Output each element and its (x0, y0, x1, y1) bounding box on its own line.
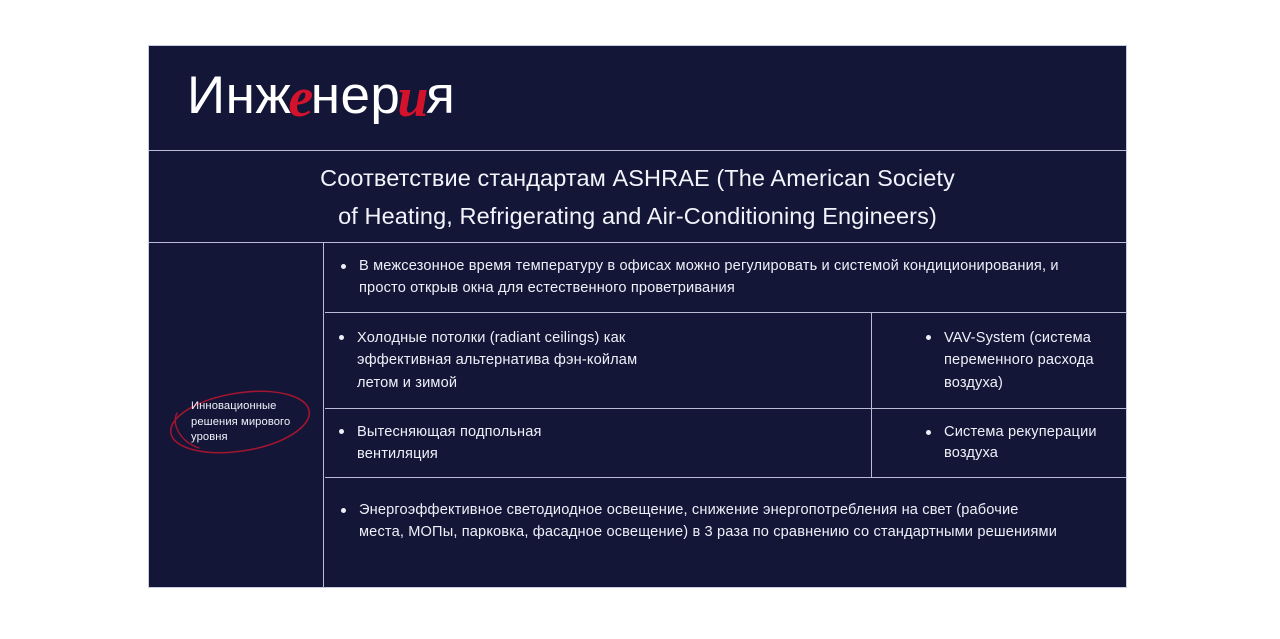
logo-band: Инженерия (149, 46, 1126, 151)
bullet-item: Система рекуперации воздуха (924, 422, 1126, 465)
content-table: Инновационные решения мирового уровня В … (149, 243, 1126, 588)
bullet-item: В межсезонное время температуру в офисах… (339, 256, 1059, 299)
bullet-item: Холодные потолки (radiant ceilings) как … (337, 327, 667, 395)
logo-part-4-script-i: и (397, 67, 429, 129)
slide-canvas: Инженерия Соответствие стандартам ASHRAE… (0, 0, 1280, 639)
logo-part-3: нер (311, 66, 401, 125)
table-cell: Энергоэффективное светодиодное освещение… (325, 478, 1126, 610)
split-row: Холодные потолки (radiant ceilings) как … (325, 313, 1126, 408)
bullet-item: VAV-System (система переменного расхода … (924, 327, 1126, 395)
table-row: Вытесняющая подпольная вентиляция Систем… (325, 409, 1126, 478)
table-cell: Система рекуперации воздуха (872, 409, 1126, 477)
table-row: Энергоэффективное светодиодное освещение… (325, 478, 1126, 588)
logo-part-1: Инж (187, 66, 291, 125)
bullet-item: Энергоэффективное светодиодное освещение… (339, 500, 1059, 543)
logo-part-5: я (426, 66, 455, 125)
slide-title-line-1: Соответствие стандартам ASHRAE (The Amer… (320, 159, 955, 197)
table-cell: VAV-System (система переменного расхода … (872, 313, 1126, 408)
table-row: В межсезонное время температуру в офисах… (325, 243, 1126, 313)
table-cell: Холодные потолки (radiant ceilings) как … (325, 313, 872, 408)
table-row: Холодные потолки (radiant ceilings) как … (325, 313, 1126, 409)
bullet-grid: В межсезонное время температуру в офисах… (325, 243, 1126, 588)
slide-title-band: Соответствие стандартам ASHRAE (The Amer… (149, 151, 1126, 243)
annotation-column: Инновационные решения мирового уровня (149, 243, 324, 588)
table-cell: Вытесняющая подпольная вентиляция (325, 409, 872, 477)
logo-part-2-script-e: е (288, 67, 313, 129)
annotation-text: Инновационные решения мирового уровня (191, 399, 315, 446)
presentation-slide: Инженерия Соответствие стандартам ASHRAE… (148, 45, 1127, 588)
split-row: Вытесняющая подпольная вентиляция Систем… (325, 409, 1126, 477)
table-cell: В межсезонное время температуру в офисах… (325, 243, 1126, 312)
bullet-item: Вытесняющая подпольная вентиляция (337, 421, 607, 466)
slide-title-line-2: of Heating, Refrigerating and Air-Condit… (338, 197, 937, 235)
annotation-callout: Инновационные решения мирового уровня (169, 391, 315, 453)
brand-logo-inzheneriya: Инженерия (187, 64, 455, 127)
